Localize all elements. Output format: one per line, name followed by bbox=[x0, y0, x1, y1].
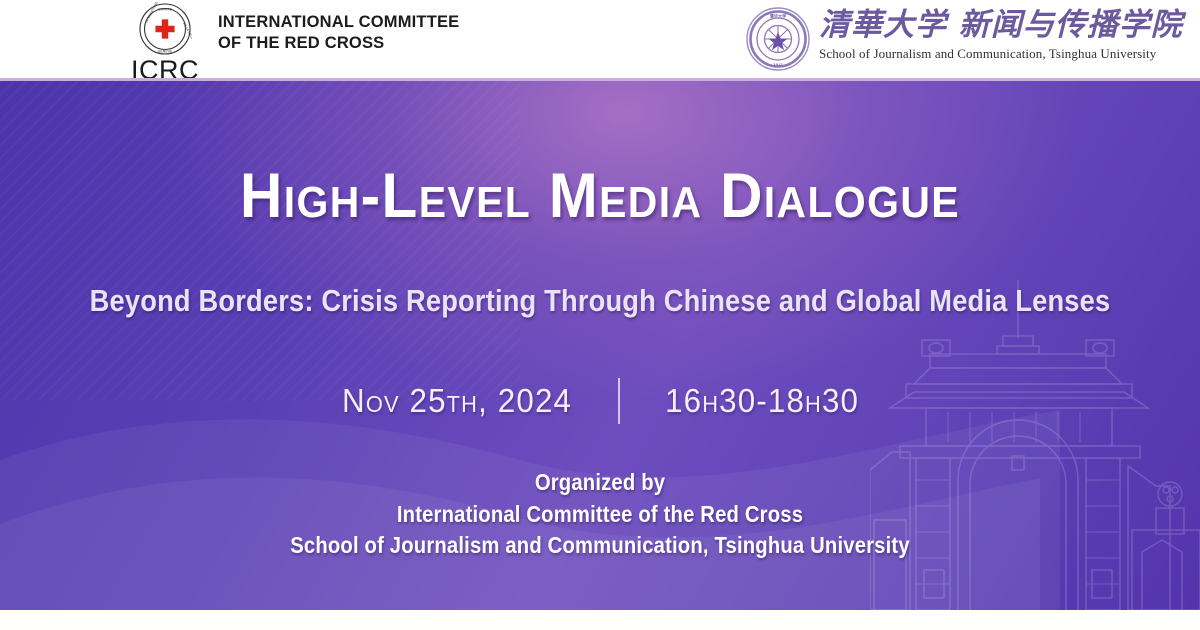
banner-content: High-Level Media Dialogue Beyond Borders… bbox=[0, 81, 1200, 610]
banner-header: COMITE GENEVE INTERNATIONAL DE LA CROIX … bbox=[0, 0, 1200, 80]
icrc-name-block: INTERNATIONAL COMMITTEE OF THE RED CROSS bbox=[218, 12, 459, 54]
icrc-name-line-1: INTERNATIONAL COMMITTEE bbox=[218, 12, 459, 33]
bottom-white-strip bbox=[0, 610, 1200, 630]
organizer-block: Organized by International Committee of … bbox=[72, 467, 1128, 562]
svg-text:GENEVE: GENEVE bbox=[158, 50, 173, 54]
tsinghua-logo-lockup: 清华大学 1911 清華大学 新闻与传播学院 School of Journal… bbox=[745, 6, 1183, 72]
organizer-name-2: School of Journalism and Communication, … bbox=[72, 530, 1128, 562]
svg-text:COMITE: COMITE bbox=[158, 8, 173, 12]
tsinghua-name-en: School of Journalism and Communication, … bbox=[819, 46, 1183, 62]
tsinghua-university-seal-icon: 清华大学 1911 bbox=[745, 6, 811, 72]
red-cross-emblem-icon: COMITE GENEVE INTERNATIONAL DE LA CROIX bbox=[138, 2, 192, 56]
svg-text:1911: 1911 bbox=[773, 63, 784, 67]
page-title: High-Level Media Dialogue bbox=[42, 165, 1158, 228]
event-time: 16h30-18h30 bbox=[665, 382, 859, 420]
banner-subtitle: Beyond Borders: Crisis Reporting Through… bbox=[72, 284, 1128, 318]
tsinghua-name-block: 清華大学 新闻与传播学院 School of Journalism and Co… bbox=[819, 8, 1183, 62]
tsinghua-name-cn: 清華大学 新闻与传播学院 bbox=[819, 8, 1183, 43]
header-divider bbox=[0, 78, 1200, 81]
organizer-name-1: International Committee of the Red Cross bbox=[72, 499, 1128, 531]
icrc-name-line-2: OF THE RED CROSS bbox=[218, 33, 459, 54]
svg-text:清华大学: 清华大学 bbox=[770, 13, 788, 20]
event-datetime-row: Nov 25th, 2024 16h30-18h30 bbox=[0, 378, 1200, 424]
icrc-logo-lockup: COMITE GENEVE INTERNATIONAL DE LA CROIX … bbox=[122, 2, 459, 84]
event-date: Nov 25th, 2024 bbox=[342, 382, 572, 420]
icrc-logo-mark: COMITE GENEVE INTERNATIONAL DE LA CROIX … bbox=[122, 2, 208, 84]
event-banner: COMITE GENEVE INTERNATIONAL DE LA CROIX … bbox=[0, 0, 1200, 630]
datetime-divider bbox=[618, 378, 620, 424]
organizer-label: Organized by bbox=[72, 467, 1128, 499]
